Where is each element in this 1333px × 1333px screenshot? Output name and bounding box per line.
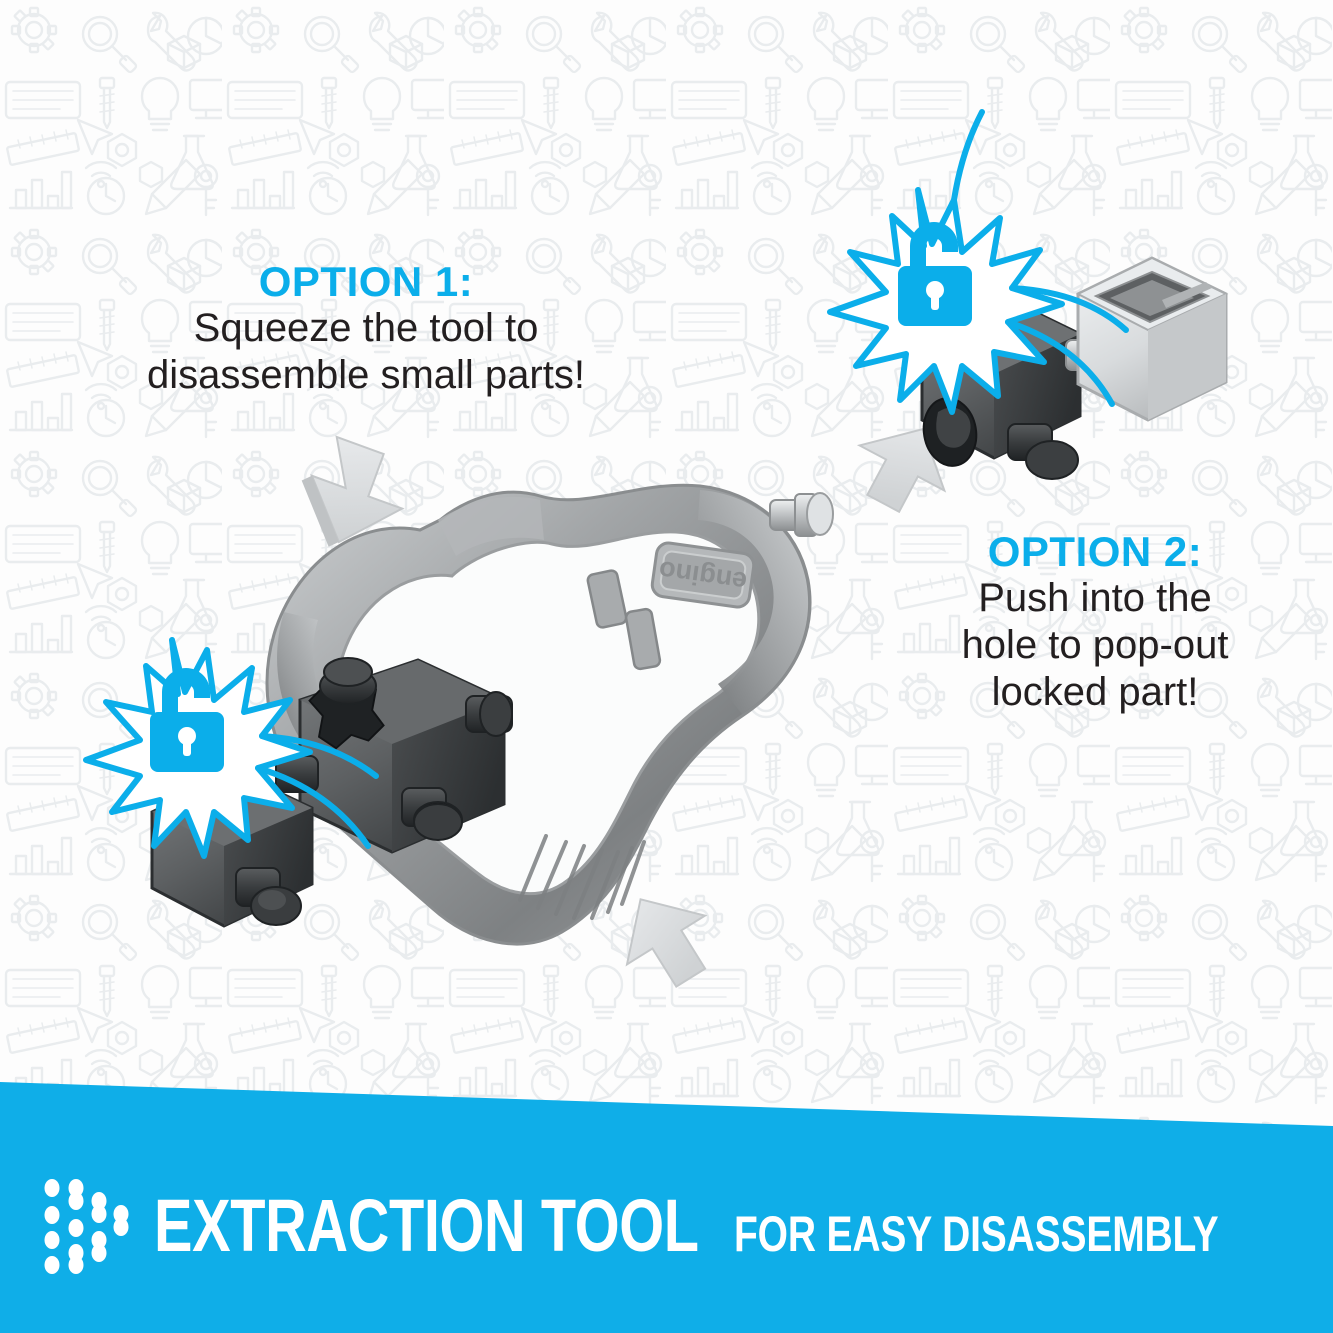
option-2-body: Push into the hole to pop-out locked par…: [905, 575, 1285, 715]
brand-emboss-badge: engino: [651, 541, 756, 608]
connector-pin: [770, 493, 833, 536]
banner-subtitle: FOR EASY DISASSEMBLY: [734, 1209, 1219, 1262]
option-1-text-block: OPTION 1: Squeeze the tool to disassembl…: [96, 258, 636, 399]
option-2-heading: OPTION 2:: [905, 528, 1285, 575]
option-1-body: Squeeze the tool to disassemble small pa…: [96, 305, 636, 399]
engino-dots-chevron-icon: [42, 1177, 132, 1275]
option-1-heading: OPTION 1:: [96, 258, 636, 305]
banner-title: EXTRACTION TOOL: [154, 1189, 699, 1263]
connector-cube-dark-left: [152, 772, 312, 926]
arrow-3d-up-left-icon: [602, 875, 729, 1003]
option-2-text-block: OPTION 2: Push into the hole to pop-out …: [905, 528, 1285, 715]
bottom-banner: EXTRACTION TOOL FOR EASY DISASSEMBLY: [0, 1060, 1333, 1333]
infographic-canvas: engino: [0, 0, 1333, 1333]
connector-cube-light: [1078, 258, 1226, 420]
